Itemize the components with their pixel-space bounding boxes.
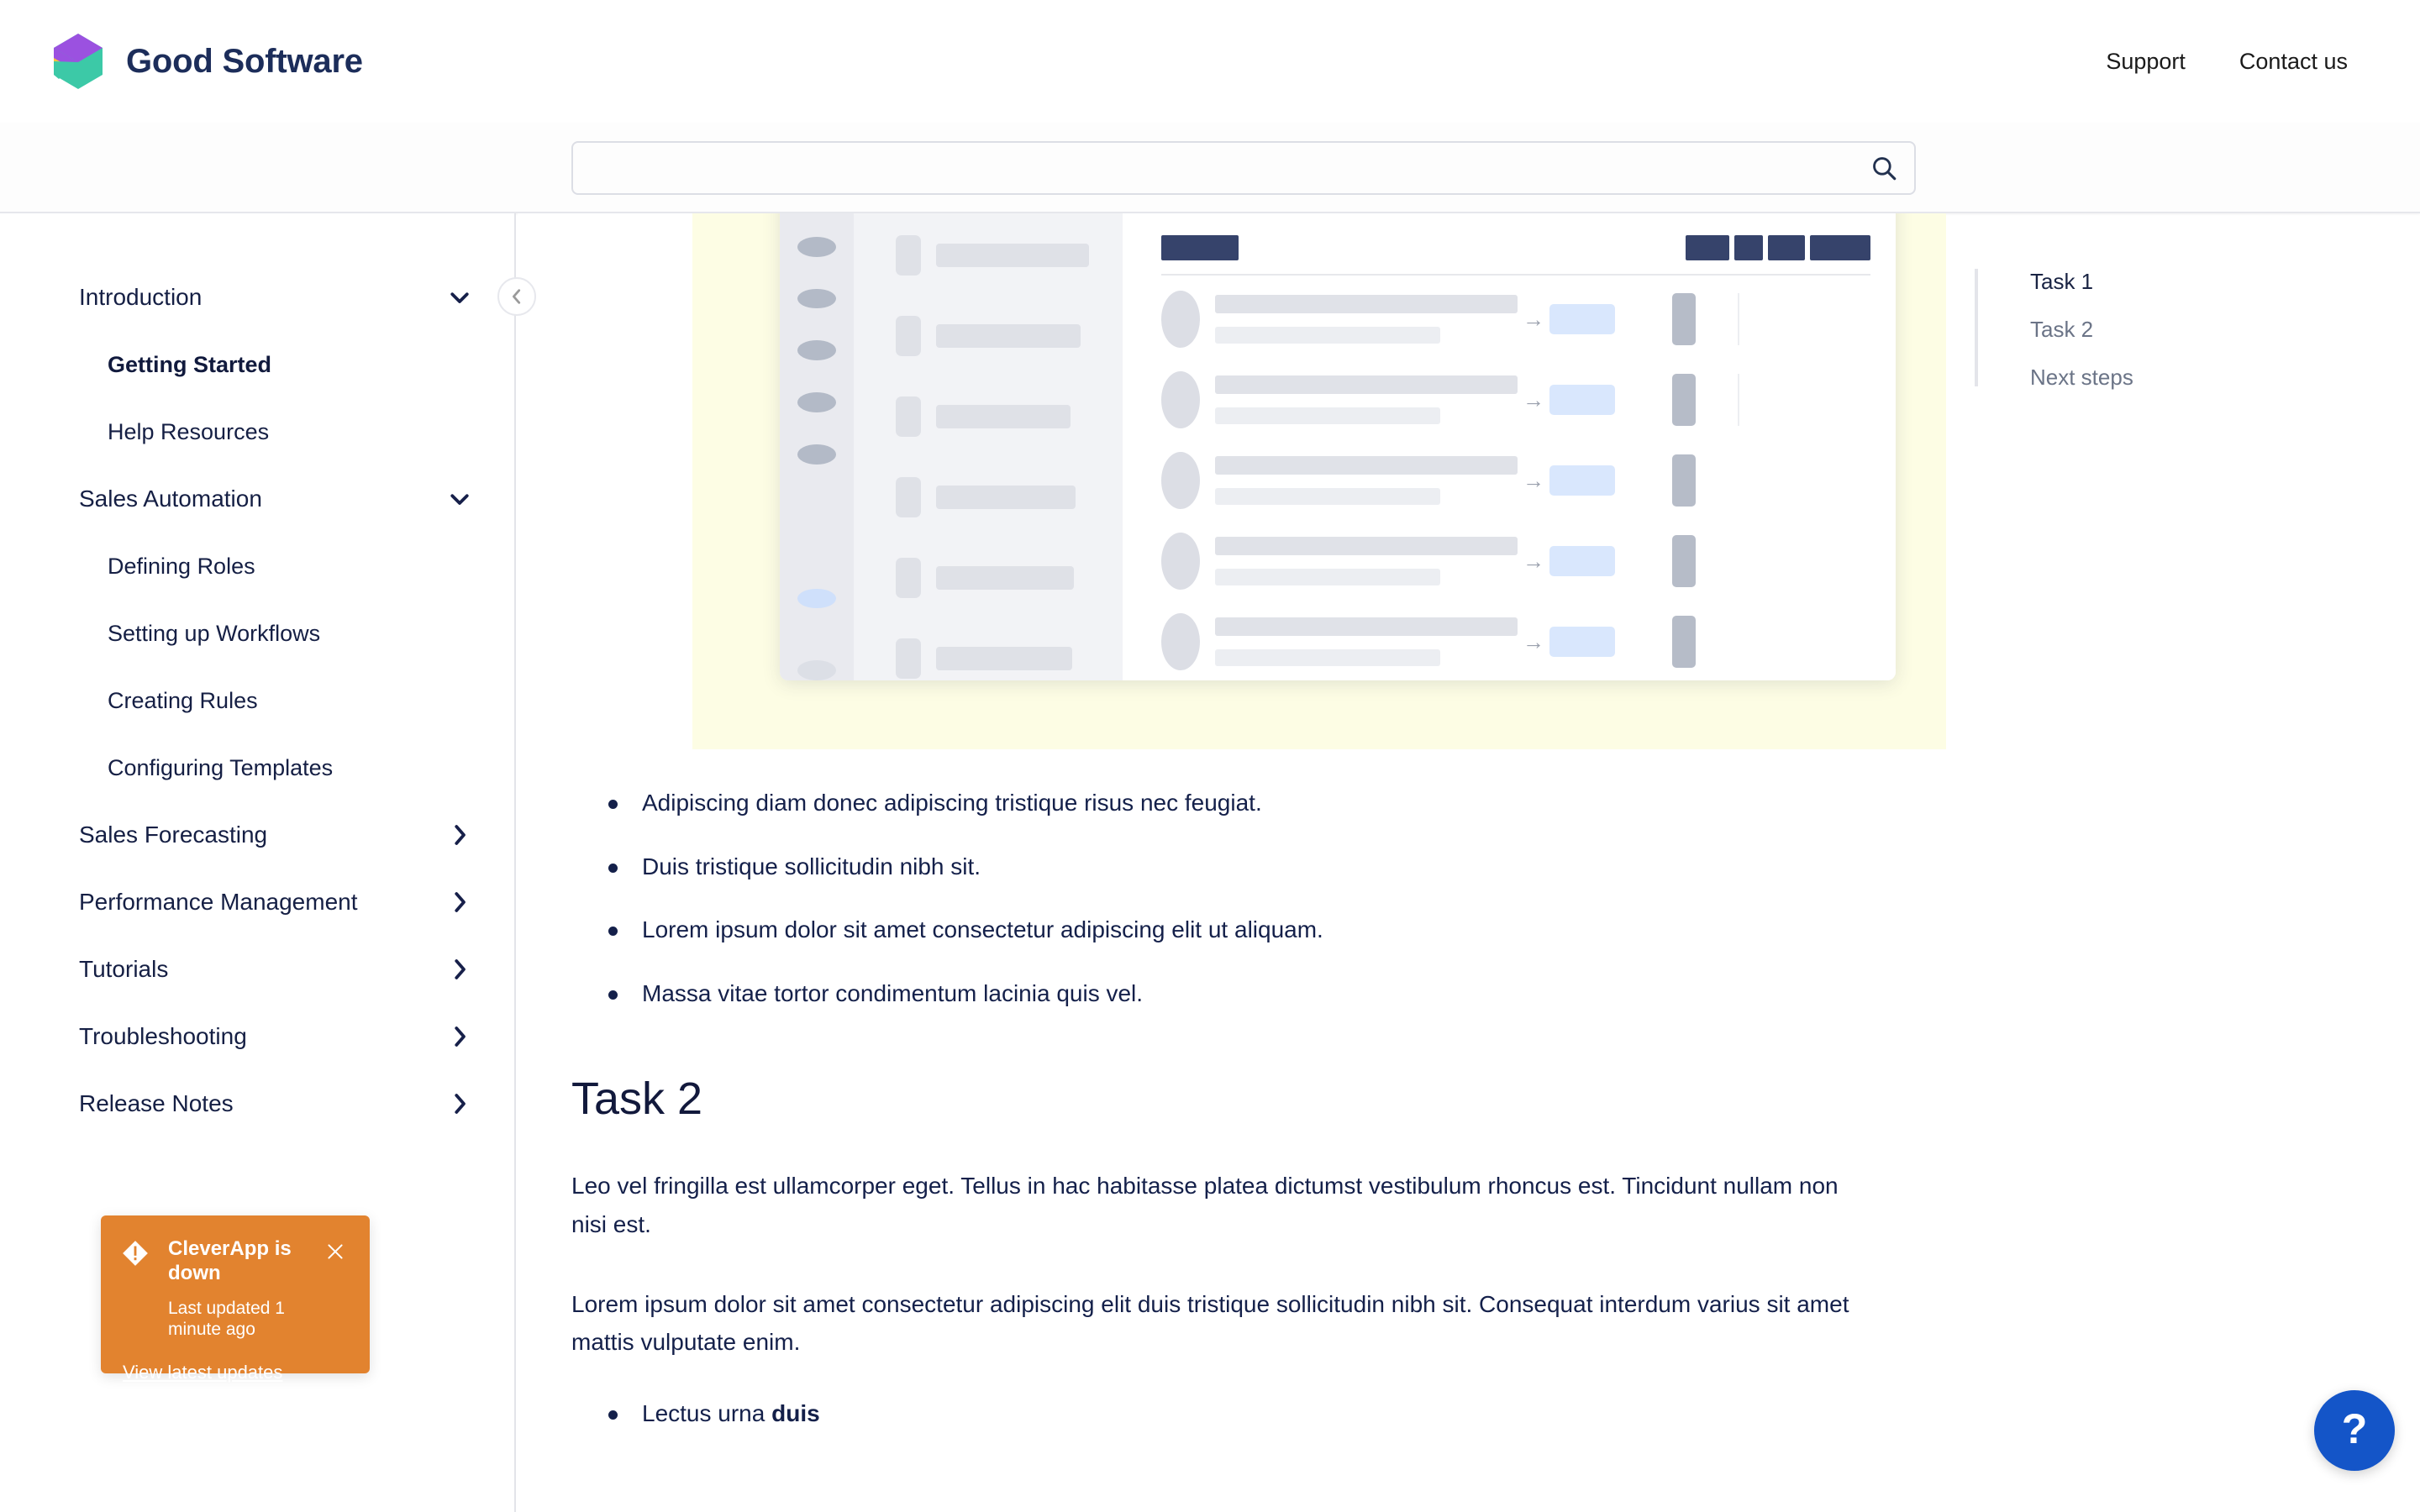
mock-line [1215,327,1440,344]
arrow-right-icon: → [1518,549,1549,575]
mock-nav-icon [896,316,921,356]
mock-line [1215,569,1440,585]
mock-line [1215,375,1518,394]
mock-nav-row [896,396,1123,437]
warning-diamond-icon [121,1239,150,1268]
chevron-right-icon[interactable] [445,821,474,849]
search-box[interactable] [571,141,1916,195]
sidebar-item-sales-automation[interactable]: Sales Automation [0,465,514,533]
mock-nav-bar [936,244,1089,267]
mock-rail-dot [797,237,836,257]
mock-nav-row [896,477,1123,517]
sidebar-item-introduction[interactable]: Introduction [0,264,514,331]
chevron-right-icon[interactable] [445,955,474,984]
mock-nav-bar [936,566,1074,590]
mock-divider [1738,616,1739,668]
mock-line [1215,649,1440,666]
sidebar-item-label: Help Resources [108,419,269,445]
mock-table-header [1161,235,1870,276]
mock-line [1215,295,1518,313]
chevron-down-icon[interactable] [445,283,474,312]
brand-logo-link[interactable]: Good Software [52,33,363,90]
list-item: Duis tristique sollicitudin nibh sit. [571,850,1892,885]
search-submit-button[interactable] [1854,143,1914,193]
sidebar-item-sales-forecasting[interactable]: Sales Forecasting [0,801,514,869]
mock-text-lines [1215,537,1518,585]
mock-status-pill [1549,385,1615,415]
sidebar-item-label: Getting Started [108,352,271,378]
sidebar-item-label: Tutorials [79,956,168,983]
header-nav-support[interactable]: Support [2106,49,2186,75]
mock-status-pill [1549,304,1615,334]
mock-avatar [1161,371,1200,428]
chevron-right-icon[interactable] [445,1022,474,1051]
mock-nav-bar [936,486,1076,509]
mock-divider [1738,293,1739,345]
sidebar-item-label: Configuring Templates [108,755,333,781]
mock-avatar [1161,533,1200,590]
mock-line [1215,407,1440,424]
sidebar-item-getting-started[interactable]: Getting Started [0,331,514,398]
header-nav-contact-us[interactable]: Contact us [2239,49,2348,75]
header-nav: Support Contact us [2106,49,2378,75]
mock-table-row: → [1161,598,1870,679]
task2-bullet-list: Lectus urna duis [571,1397,1892,1431]
mock-line [1215,617,1518,636]
sidebar-item-label: Introduction [79,284,202,311]
chevron-right-icon[interactable] [445,1089,474,1118]
mock-nav-icon [896,235,921,276]
toast-action-link[interactable]: View latest updates [123,1362,282,1383]
mock-nav-icon [896,477,921,517]
list-item: Adipiscing diam donec adipiscing tristiq… [571,786,1892,821]
mock-nav-bar [936,324,1081,348]
mock-avatar [1161,291,1200,348]
sidebar-item-help-resources[interactable]: Help Resources [0,398,514,465]
mock-avatar [1161,613,1200,670]
mock-nav-icon [896,638,921,679]
mock-text-lines [1215,295,1518,344]
mock-nav-row [896,638,1123,679]
mock-status-pill [1549,546,1615,576]
toast-header: CleverApp is down Last updated 1 minute … [121,1237,350,1340]
mock-app-window: → → [780,213,1896,680]
sidebar-item-label: Defining Roles [108,554,255,580]
main-content: → → [518,213,1946,1512]
toc-item-task-1[interactable]: Task 1 [2030,269,2133,295]
question-mark-icon: ? [2342,1408,2368,1450]
mock-avatar [1161,452,1200,509]
arrow-right-icon: → [1518,629,1549,655]
chevron-left-icon [508,287,526,306]
toast-title: CleverApp is down [168,1237,321,1286]
mock-text-lines [1215,456,1518,505]
arrow-right-icon: → [1518,468,1549,494]
hexagon-logo-icon [52,33,104,90]
sidebar-item-label: Sales Automation [79,486,262,512]
mock-table-row: → [1161,356,1870,437]
mock-nav-icon [896,396,921,437]
doc-figure-image: → → [692,213,1946,749]
mock-column-header [1161,235,1239,260]
task2-heading: Task 2 [571,1073,1892,1125]
task2-paragraph-1: Leo vel fringilla est ullamcorper eget. … [571,1167,1865,1243]
search-icon [1870,154,1898,182]
list-item: Lectus urna duis [571,1397,1892,1431]
list-item: Lorem ipsum dolor sit amet consectetur a… [571,913,1892,948]
mock-chip [1672,616,1696,668]
mock-nav-bar [936,647,1072,670]
sidebar-item-release-notes[interactable]: Release Notes [0,1070,514,1137]
task1-bullet-list: Adipiscing diam donec adipiscing tristiq… [571,786,1892,1011]
sidebar-item-label: Performance Management [79,889,358,916]
help-button[interactable]: ? [2314,1390,2395,1471]
mock-nav-bar [936,405,1071,428]
mock-rail-dot [797,660,836,680]
toast-close-button[interactable] [321,1237,350,1266]
sidebar-item-troubleshooting[interactable]: Troubleshooting [0,1003,514,1070]
mock-rail-dot [797,340,836,360]
toc-item-next-steps[interactable]: Next steps [2030,365,2133,391]
list-item: Massa vitae tortor condimentum lacinia q… [571,977,1892,1011]
mock-chip [1672,293,1696,345]
chevron-right-icon[interactable] [445,888,474,916]
table-of-contents: Task 1 Task 2 Next steps [1975,269,2133,386]
mock-status-pill [1549,465,1615,496]
list-item-text: Lectus urna [642,1400,771,1426]
mock-nav-row [896,558,1123,598]
sidebar-item-label: Troubleshooting [79,1023,247,1050]
mock-column-header [1768,235,1805,260]
sidebar-item-setting-up-workflows[interactable]: Setting up Workflows [0,600,514,667]
mock-column-header [1686,235,1729,260]
sidebar-item-label: Creating Rules [108,688,258,714]
mock-table-row: → [1161,437,1870,517]
list-item-bold: duis [771,1400,820,1426]
mock-rail-dot [797,289,836,309]
mock-icon-rail [780,213,854,680]
mock-text-lines [1215,617,1518,666]
toc-item-task-2[interactable]: Task 2 [2030,317,2133,343]
sidebar-item-configuring-templates[interactable]: Configuring Templates [0,734,514,801]
toast-texts: CleverApp is down Last updated 1 minute … [168,1237,321,1340]
sidebar-collapse-button[interactable] [497,277,536,316]
mock-line [1215,537,1518,555]
mock-table-panel: → → [1123,213,1896,680]
status-toast: CleverApp is down Last updated 1 minute … [101,1215,370,1373]
sidebar-item-label: Setting up Workflows [108,621,320,647]
sidebar-item-performance-management[interactable]: Performance Management [0,869,514,936]
mock-table-row: → [1161,517,1870,598]
toast-subtitle: Last updated 1 minute ago [168,1298,321,1340]
close-icon [324,1241,346,1263]
mock-nav-row [896,235,1123,276]
mock-side-nav [854,213,1123,680]
mock-divider [1738,535,1739,587]
mock-chip [1672,535,1696,587]
sidebar-item-label: Sales Forecasting [79,822,267,848]
mock-nav-row [896,316,1123,356]
mock-line [1215,488,1440,505]
top-header: Good Software Support Contact us [0,0,2420,123]
mock-rail-dot [797,392,836,412]
task2-paragraph-2: Lorem ipsum dolor sit amet consectetur a… [571,1285,1865,1362]
mock-divider [1738,454,1739,507]
mock-divider [1738,374,1739,426]
search-input[interactable] [573,143,1854,193]
sidebar-item-tutorials[interactable]: Tutorials [0,936,514,1003]
arrow-right-icon: → [1518,387,1549,413]
mock-status-pill [1549,627,1615,657]
mock-nav-icon [896,558,921,598]
mock-rail-dot [797,589,836,609]
sidebar-item-label: Release Notes [79,1090,234,1117]
mock-chip [1672,374,1696,426]
sidebar-item-defining-roles[interactable]: Defining Roles [0,533,514,600]
mock-rail-dot [797,444,836,465]
chevron-down-icon[interactable] [445,485,474,513]
sidebar-item-creating-rules[interactable]: Creating Rules [0,667,514,734]
brand-name: Good Software [126,43,363,81]
mock-line [1215,456,1518,475]
mock-column-header [1810,235,1870,260]
mock-text-lines [1215,375,1518,424]
mock-table-row: → [1161,276,1870,356]
mock-column-header [1734,235,1763,260]
mock-chip [1672,454,1696,507]
arrow-right-icon: → [1518,307,1549,333]
